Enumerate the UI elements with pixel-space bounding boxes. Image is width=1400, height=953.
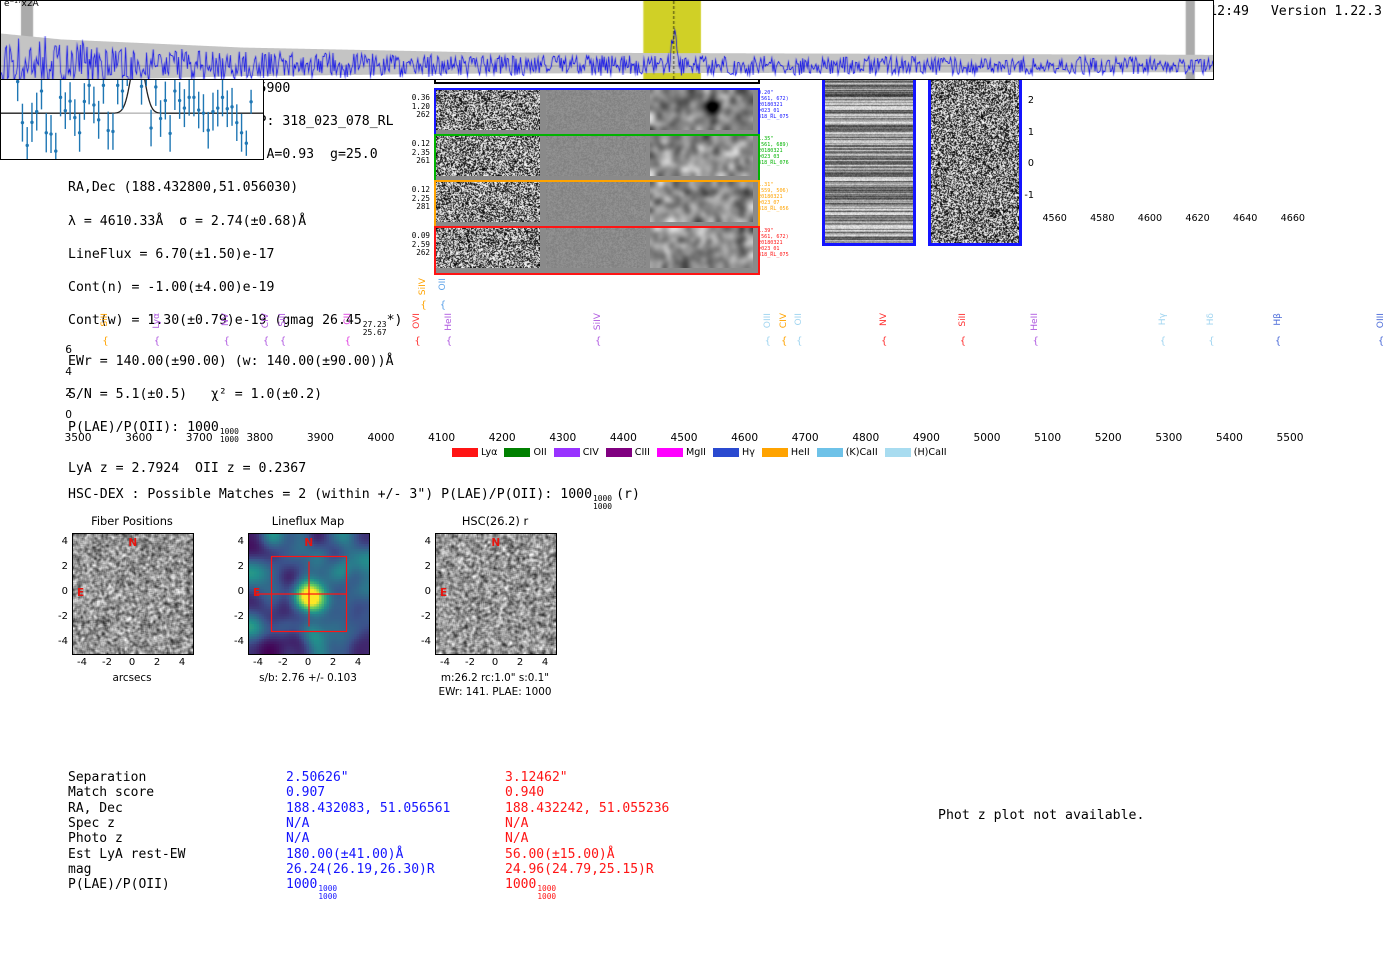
image-ytick: -4 — [226, 636, 244, 647]
match-col1-value: 188.432083, 51.056561 — [286, 801, 450, 816]
spectrum-xtick: 5000 — [965, 432, 1009, 444]
legend-label: Lyα — [481, 447, 497, 458]
match-col2-value: 0.940 — [505, 785, 544, 800]
legend-label: HeII — [791, 447, 810, 458]
spec2d-image — [436, 228, 540, 268]
match-col1-value: 180.00(±41.00)Å — [286, 847, 403, 862]
spectral-line-brace: { — [1208, 336, 1214, 347]
spectrum-xtick: 4800 — [844, 432, 888, 444]
pixelflat-image — [546, 90, 646, 130]
spectral-line-label: HeII — [1030, 313, 1040, 331]
hsc-image-panel[interactable] — [435, 533, 557, 655]
spectral-line-brace: { — [796, 336, 802, 347]
spec2d-row-tag: 1.35" (561, 689) 20180321 v023_03 318_RL… — [758, 136, 789, 166]
match-row-label: RA, Dec — [68, 801, 123, 816]
spectral-line-label: OVI — [412, 313, 422, 329]
spectrum-xtick: 3600 — [117, 432, 161, 444]
image-ytick: -2 — [226, 611, 244, 622]
info-redshifts: LyA z = 2.7924 OII z = 0.2367 — [68, 461, 402, 478]
hscdex-plae-lo: 1000 — [593, 503, 612, 511]
legend-label: CIII — [635, 447, 650, 458]
legend-item: Hγ — [713, 447, 755, 458]
smoothed-image — [650, 182, 753, 222]
photz-note: Phot z plot not available. — [938, 808, 1144, 823]
legend-swatch — [606, 448, 632, 457]
image-ytick: -2 — [413, 611, 431, 622]
spectrum-xtick: 4100 — [420, 432, 464, 444]
smoothed-image — [650, 136, 753, 176]
compass-east: E — [440, 587, 447, 599]
smoothed-image — [650, 228, 753, 268]
info-sn-chi2: S/N = 5.1(±0.5) χ² = 1.0(±0.2) — [68, 387, 402, 404]
spectrum-xtick: 4000 — [359, 432, 403, 444]
info-lambda: λ = 4610.33Å σ = 2.74(±0.68)Å — [68, 214, 402, 231]
spectrum-xtick: 5200 — [1086, 432, 1130, 444]
spec2d-image — [436, 136, 540, 176]
zoom-ytick: 1 — [1012, 127, 1034, 138]
image-panel-title: Fiber Positions — [37, 514, 227, 528]
header-version: Version 1.22.3 — [1271, 4, 1382, 19]
spectral-line-brace: { — [446, 336, 452, 347]
spectral-line-label: Hδ — [1206, 313, 1216, 325]
full-spectrum-units: e⁻¹⁷x2Å — [4, 0, 39, 9]
image-ytick: 0 — [226, 586, 244, 597]
pixelflat-image — [546, 228, 646, 268]
image-xtick: -2 — [95, 657, 119, 668]
legend-label: OII — [533, 447, 546, 458]
lineflux-map-panel[interactable] — [248, 533, 370, 655]
spectral-line-label: Hγ — [1158, 313, 1168, 325]
spectrum-xtick: 3500 — [56, 432, 100, 444]
match-col1-value: 100010001000 — [286, 877, 337, 901]
spectrum-ytick: 0 — [54, 409, 72, 421]
spec2d-row-values: 0.122.25281 — [392, 186, 430, 212]
sky-image — [436, 534, 556, 654]
info-radec: RA,Dec (188.432800,51.056030) — [68, 180, 402, 197]
spectral-line-label: CIV — [779, 313, 789, 328]
spec2d-row[interactable] — [434, 226, 760, 275]
legend-item: (H)CaII — [885, 447, 947, 458]
image-ytick: 2 — [50, 561, 68, 572]
zoom-ytick: 2 — [1012, 95, 1034, 106]
pixelflat-image — [546, 182, 646, 222]
spectral-line-brace: { — [1160, 336, 1166, 347]
match-col1-value: N/A — [286, 816, 309, 831]
image-ytick: 2 — [413, 561, 431, 572]
spectrum-xtick: 3900 — [298, 432, 342, 444]
legend-item: Lyα — [452, 447, 497, 458]
match-col1-value: 0.907 — [286, 785, 325, 800]
spectrum-xtick: 4300 — [541, 432, 585, 444]
spectral-line-label: CIV — [261, 313, 271, 328]
legend-swatch — [452, 448, 478, 457]
pixelflat-image — [546, 136, 646, 176]
spec2d-row[interactable] — [434, 180, 760, 229]
match-col2-value: 56.00(±15.00)Å — [505, 847, 615, 862]
spectral-line-label: OIII — [763, 313, 773, 328]
image-xtick: 4 — [170, 657, 194, 668]
spectral-line-label: OII — [438, 278, 448, 291]
legend-label: Hγ — [742, 447, 755, 458]
match-row-label: Match score — [68, 785, 154, 800]
legend-item: CIV — [554, 447, 599, 458]
image-xtick: 2 — [321, 657, 345, 668]
match-col2-value: 100010001000 — [505, 877, 556, 901]
spectral-line-label: OII — [794, 313, 804, 326]
full-spectrum-plot: e⁻¹⁷x2Å — [0, 0, 1214, 80]
spectral-line-brace: { — [1032, 336, 1038, 347]
image-xtick: -4 — [70, 657, 94, 668]
image-ytick: -2 — [50, 611, 68, 622]
zoom-xtick: 4600 — [1134, 213, 1166, 224]
image-xtick: 0 — [120, 657, 144, 668]
full-spectrum-panel: e⁻¹⁷x2Å 35003600370038003900400041004200… — [0, 0, 1214, 80]
legend-label: CIV — [583, 447, 599, 458]
smoothed-image — [650, 90, 753, 130]
hscdex-summary: HSC-DEX : Possible Matches = 2 (within +… — [68, 487, 640, 511]
legend-swatch — [554, 448, 580, 457]
spectrum-xtick: 4400 — [601, 432, 645, 444]
legend-swatch — [657, 448, 683, 457]
spectrum-xtick: 4500 — [662, 432, 706, 444]
spectral-line-brace: { — [102, 336, 108, 347]
match-col2-value: N/A — [505, 816, 528, 831]
image-xtick: -4 — [433, 657, 457, 668]
image-panel-title: Lineflux Map — [213, 514, 403, 528]
image-caption: s/b: 2.76 +/- 0.103 — [203, 672, 413, 685]
compass-north: N — [491, 537, 500, 549]
spectrum-ytick: 4 — [54, 366, 72, 378]
spectral-line-brace: { — [765, 336, 771, 347]
cutout-image — [931, 61, 1019, 243]
hscdex-summary-post: (r) — [616, 487, 640, 502]
zoom-xtick: 4620 — [1182, 213, 1214, 224]
legend-label: (H)CaII — [914, 447, 947, 458]
spectral-line-brace: { — [881, 336, 887, 347]
spectral-line-label: SiIV — [593, 313, 603, 330]
image-panel-canvas — [249, 534, 369, 654]
clean-image-cutout[interactable] — [928, 58, 1022, 246]
legend-label: MgII — [686, 447, 706, 458]
spectral-line-label: SiIV — [418, 278, 428, 295]
image-ytick: -4 — [413, 636, 431, 647]
match-row-label: Spec z — [68, 816, 115, 831]
spectral-line-label: Lyα — [152, 313, 162, 329]
spectrum-xtick: 4900 — [904, 432, 948, 444]
spec2d-image — [436, 90, 540, 130]
match-col1-value: 2.50626" — [286, 770, 349, 785]
legend-swatch — [885, 448, 911, 457]
match-col1-value: 26.24(26.19,26.30)R — [286, 862, 435, 877]
spectral-line-label: SiII — [100, 313, 110, 327]
match-col2-value: 3.12462" — [505, 770, 568, 785]
spec2d-row-tag: 0.20" (561, 672) 20180321 v023_01 318_RL… — [758, 90, 789, 120]
spectral-line-brace: { — [1378, 336, 1384, 347]
zoom-xtick: 4560 — [1039, 213, 1071, 224]
spectral-line-brace: { — [960, 336, 966, 347]
image-ytick: 4 — [50, 536, 68, 547]
spectrum-xtick: 4600 — [723, 432, 767, 444]
spectrum-legend: LyαOIICIVCIIIMgIIHγHeII(K)CaII(H)CaII — [452, 447, 947, 458]
spectral-line-label: SiII — [958, 313, 968, 327]
spectral-line-brace: { — [223, 336, 229, 347]
legend-swatch — [762, 448, 788, 457]
match-col1-value: N/A — [286, 831, 309, 846]
spectrum-xtick: 5100 — [1026, 432, 1070, 444]
spectral-line-brace: { — [345, 336, 351, 347]
compass-east: E — [77, 587, 84, 599]
spec2d-row-values: 0.122.35261 — [392, 140, 430, 166]
spectrum-xtick: 5300 — [1147, 432, 1191, 444]
image-xtick: 2 — [145, 657, 169, 668]
zoom-xtick: 4640 — [1229, 213, 1261, 224]
spectrum-xtick: 3700 — [177, 432, 221, 444]
compass-north: N — [128, 537, 137, 549]
image-panel-title: HSC(26.2) r — [400, 514, 590, 528]
legend-swatch — [504, 448, 530, 457]
legend-swatch — [713, 448, 739, 457]
match-col2-value: 188.432242, 51.055236 — [505, 801, 669, 816]
legend-item: HeII — [762, 447, 810, 458]
spectral-line-brace: { — [420, 300, 426, 311]
image-xtick: 4 — [533, 657, 557, 668]
match-row-label: P(LAE)/P(OII) — [68, 877, 170, 892]
image-xtick: 2 — [508, 657, 532, 668]
match-row-label: Est LyA rest-EW — [68, 847, 185, 862]
spectrum-xtick: 5400 — [1207, 432, 1251, 444]
image-xtick: -2 — [271, 657, 295, 668]
spec2d-row-values: 0.361.20262 — [392, 94, 430, 120]
spectral-line-brace: { — [781, 336, 787, 347]
spectrum-ytick: 6 — [54, 344, 72, 356]
image-xtick: -4 — [246, 657, 270, 668]
spectral-line-label: HeII — [444, 313, 454, 331]
spectrum-xtick: 4200 — [480, 432, 524, 444]
spectral-line-brace: { — [440, 300, 446, 311]
legend-item: (K)CaII — [817, 447, 878, 458]
image-xlabel: arcsecs — [37, 672, 227, 685]
zoom-xtick: 4580 — [1086, 213, 1118, 224]
legend-item: CIII — [606, 447, 650, 458]
spectral-line-label: NV — [879, 313, 889, 326]
info-plae-lo: 1000 — [220, 436, 239, 444]
legend-item: OII — [504, 447, 546, 458]
info-ewr: EWr = 140.00(±90.00) (w: 140.00(±90.00))… — [68, 354, 402, 371]
sky-image — [73, 534, 193, 654]
spec2d-row-values: 0.092.59262 — [392, 232, 430, 258]
spectrum-xtick: 4700 — [783, 432, 827, 444]
zoom-xtick: 4660 — [1277, 213, 1309, 224]
zoom-ytick: -1 — [1012, 190, 1034, 201]
image-ytick: 4 — [226, 536, 244, 547]
spectral-line-brace: { — [280, 336, 286, 347]
spec2d-row[interactable] — [434, 88, 760, 137]
spectral-line-label: SiII — [278, 313, 288, 327]
image-xtick: 0 — [296, 657, 320, 668]
info-cont-w-text: Cont(w) = 1.30(±0.79)e-19 (gmag 26.45 — [68, 313, 362, 328]
full-spectrum-canvas — [1, 1, 1213, 79]
image-ytick: 2 — [226, 561, 244, 572]
hscdex-summary-text: HSC-DEX : Possible Matches = 2 (within +… — [68, 487, 592, 502]
spectral-line-brace: { — [1275, 336, 1281, 347]
fiber-positions-panel[interactable] — [72, 533, 194, 655]
image-ytick: 0 — [50, 586, 68, 597]
spectral-line-label: OIII — [1376, 313, 1386, 328]
spectral-line-brace: { — [263, 336, 269, 347]
spec2d-row-tag: 1.31" (559, 506) 20180321 v023_07 318_RL… — [758, 182, 789, 212]
spec2d-row[interactable] — [434, 134, 760, 183]
spectral-line-brace: { — [414, 336, 420, 347]
legend-label: (K)CaII — [846, 447, 878, 458]
info-cont-w-post: *) — [387, 313, 403, 328]
legend-item: MgII — [657, 447, 706, 458]
info-gmag-lo: 25.67 — [363, 329, 387, 337]
info-lineflux: LineFlux = 6.70(±1.50)e-17 — [68, 247, 402, 264]
spectrum-ytick: 2 — [54, 387, 72, 399]
match-row-label: Separation — [68, 770, 146, 785]
image-ytick: 0 — [413, 586, 431, 597]
with-sky-cutout[interactable] — [822, 58, 916, 246]
legend-swatch — [817, 448, 843, 457]
spectrum-xtick: 5500 — [1268, 432, 1312, 444]
image-xtick: 4 — [346, 657, 370, 668]
image-ytick: 4 — [413, 536, 431, 547]
spectrum-xtick: 3800 — [238, 432, 282, 444]
spectral-line-label: NV — [221, 313, 231, 326]
image-ytick: -4 — [50, 636, 68, 647]
info-cont-n: Cont(n) = -1.00(±4.00)e-19 — [68, 280, 402, 297]
match-row-label: Photo z — [68, 831, 123, 846]
image-xtick: -2 — [458, 657, 482, 668]
compass-east: E — [253, 587, 260, 599]
spec2d-row-tag: 1.39" (561, 672) 20180321 v023_01 318_RL… — [758, 228, 789, 258]
zoom-ytick: 0 — [1012, 158, 1034, 169]
compass-north: N — [304, 537, 313, 549]
image-caption-2: EWr: 141. PLAE: 1000 — [390, 686, 600, 699]
spectral-line-brace: { — [154, 336, 160, 347]
spectral-line-label: CII — [343, 313, 353, 325]
match-row-label: mag — [68, 862, 91, 877]
spectral-line-label: Hβ — [1273, 313, 1283, 326]
spectral-line-brace: { — [595, 336, 601, 347]
image-xtick: 0 — [483, 657, 507, 668]
match-col2-value: 24.96(24.79,25.15)R — [505, 862, 654, 877]
match-col2-value: N/A — [505, 831, 528, 846]
image-caption: m:26.2 rc:1.0" s:0.1" — [390, 672, 600, 685]
cutout-image — [825, 61, 913, 243]
spec2d-image — [436, 182, 540, 222]
